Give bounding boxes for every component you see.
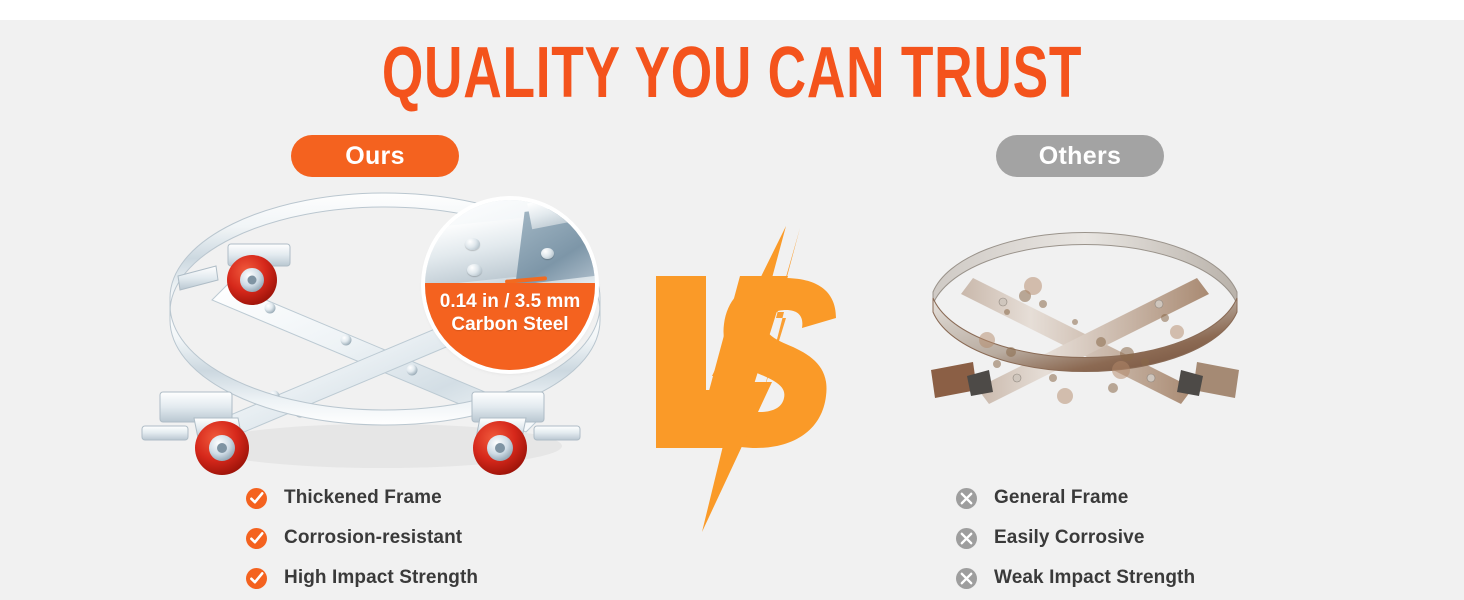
- check-circle-icon: [246, 528, 267, 549]
- feature-label: High Impact Strength: [284, 567, 478, 589]
- product-image-others: [915, 200, 1255, 450]
- feature-label: Thickened Frame: [284, 487, 442, 509]
- cross-circle-icon: [956, 568, 977, 589]
- badge-others: Others: [996, 135, 1164, 177]
- callout-line-2: Carbon Steel: [451, 313, 568, 336]
- cross-circle-icon: [956, 528, 977, 549]
- feature-label: Weak Impact Strength: [994, 567, 1195, 589]
- comparison-banner: QUALITY YOU CAN TRUST Ours Others: [0, 0, 1464, 600]
- list-item: High Impact Strength: [246, 558, 478, 598]
- list-item: General Frame: [956, 478, 1195, 518]
- feature-list-ours: Thickened Frame Corrosion-resistant High…: [246, 478, 478, 598]
- list-item: Weak Impact Strength: [956, 558, 1195, 598]
- callout-bubble: 0.14 in / 3.5 mm Carbon Steel: [425, 200, 595, 370]
- list-item: Thickened Frame: [246, 478, 478, 518]
- cross-circle-icon: [956, 488, 977, 509]
- check-circle-icon: [246, 568, 267, 589]
- callout-line-1: 0.14 in / 3.5 mm: [440, 290, 580, 313]
- list-item: Easily Corrosive: [956, 518, 1195, 558]
- feature-list-others: General Frame Easily Corrosive Weak Impa…: [956, 478, 1195, 598]
- check-circle-icon: [246, 488, 267, 509]
- badge-others-label: Others: [1039, 142, 1121, 171]
- versus-graphic: [648, 232, 868, 522]
- feature-label: Corrosion-resistant: [284, 527, 462, 549]
- list-item: Corrosion-resistant: [246, 518, 478, 558]
- feature-label: Easily Corrosive: [994, 527, 1145, 549]
- page-title: QUALITY YOU CAN TRUST: [190, 36, 1273, 110]
- feature-label: General Frame: [994, 487, 1128, 509]
- badge-ours-label: Ours: [345, 142, 405, 171]
- callout-band: 0.14 in / 3.5 mm Carbon Steel: [425, 283, 595, 370]
- badge-ours: Ours: [291, 135, 459, 177]
